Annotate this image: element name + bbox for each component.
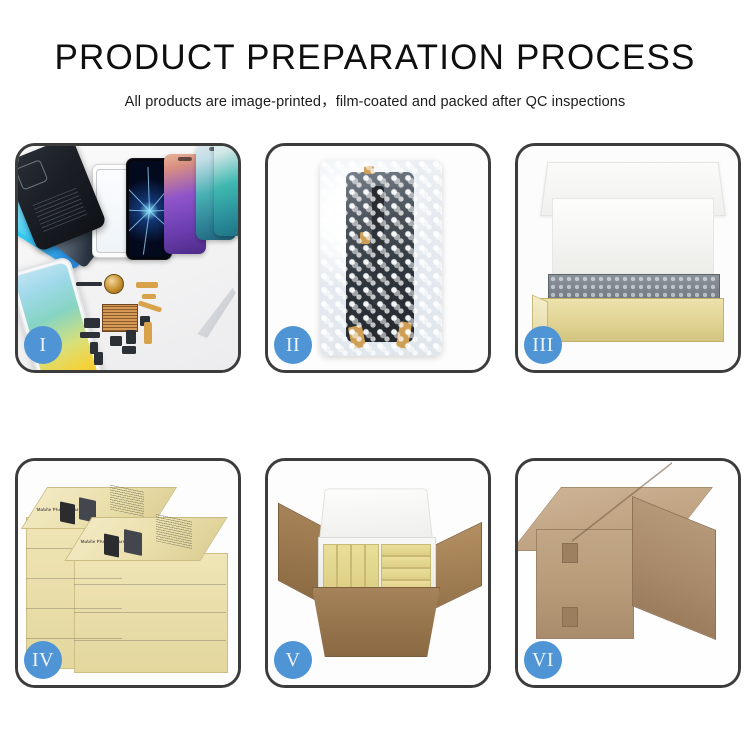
tweezers-icon	[192, 288, 236, 338]
carton-front-face	[536, 529, 634, 639]
small-part-icon	[122, 346, 136, 354]
carton-tape-lower	[562, 607, 578, 627]
carton-side-face	[632, 496, 716, 640]
process-step-1[interactable]: I	[15, 143, 241, 373]
flex-cable-icon	[142, 294, 156, 299]
speaker-coil-icon	[104, 274, 124, 294]
carton-tape-upper	[562, 543, 578, 563]
phone-swatch	[104, 533, 119, 557]
flex-cable-icon	[144, 322, 152, 344]
step-badge-6: VI	[524, 641, 562, 679]
phone-swatch	[60, 501, 75, 524]
foam-lid-icon	[319, 489, 433, 543]
header: PRODUCT PREPARATION PROCESS All products…	[0, 0, 750, 111]
step-badge-2: II	[274, 326, 312, 364]
process-step-5[interactable]: V	[265, 458, 491, 688]
flex-cable-icon	[138, 300, 162, 312]
process-step-grid: I II	[15, 143, 735, 688]
small-part-icon	[94, 352, 103, 365]
box-stack-right	[74, 553, 228, 673]
small-part-icon	[110, 336, 122, 346]
bubble-texture-highlight	[320, 160, 442, 356]
foam-liner-icon	[318, 537, 436, 595]
foam-sheet-icon	[552, 198, 714, 278]
process-step-4[interactable]: Mobile Phone Spare Parts Mobile Phone Sp…	[15, 458, 241, 688]
page-title: PRODUCT PREPARATION PROCESS	[0, 40, 750, 75]
flex-cable-icon	[136, 282, 158, 288]
small-part-icon	[76, 282, 102, 286]
notch-icon	[178, 157, 192, 161]
phone-teal-2-icon	[214, 146, 238, 236]
infographic-page: PRODUCT PREPARATION PROCESS All products…	[0, 0, 750, 750]
step-badge-4: IV	[24, 641, 62, 679]
logic-board-icon	[102, 304, 138, 332]
phone-wallpaper	[129, 161, 169, 257]
process-step-6[interactable]: VI	[515, 458, 741, 688]
process-step-2[interactable]: II	[265, 143, 491, 373]
bubble-bag-icon	[320, 160, 442, 356]
phone-swatch	[124, 529, 142, 556]
small-part-icon	[84, 318, 100, 328]
step-badge-5: V	[274, 641, 312, 679]
small-part-icon	[80, 332, 100, 338]
carton-body-icon	[312, 587, 440, 657]
process-step-3[interactable]: III	[515, 143, 741, 373]
step-badge-3: III	[524, 326, 562, 364]
box-body-icon	[540, 298, 724, 342]
step-badge-1: I	[24, 326, 62, 364]
page-subtitle: All products are image-printed，film-coat…	[0, 90, 750, 111]
small-part-icon	[126, 330, 136, 344]
